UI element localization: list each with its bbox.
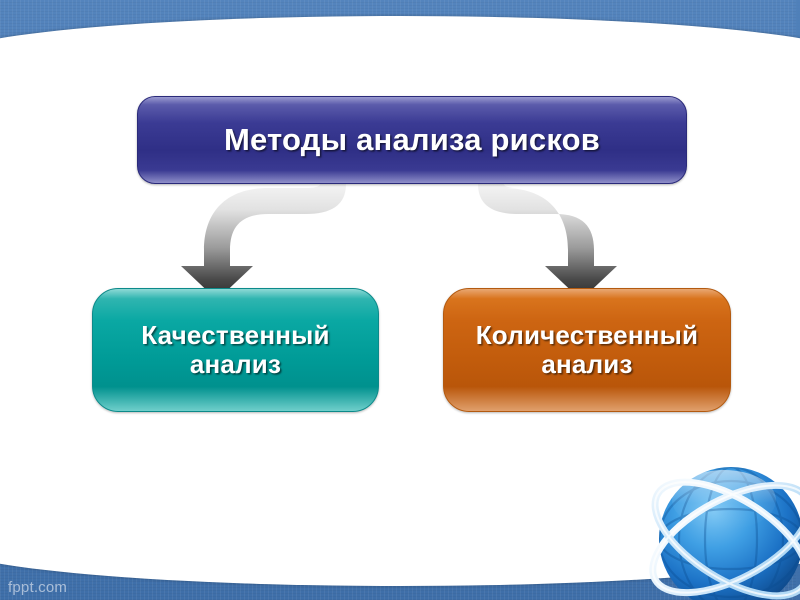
diagram-node-qualitative-label-line1: Качественный xyxy=(141,321,330,350)
diagram-node-qualitative-label: Качественный анализ xyxy=(141,321,330,379)
diagram-node-root[interactable]: Методы анализа рисков xyxy=(137,96,687,184)
watermark-fppt: fppt.com xyxy=(8,579,67,596)
diagram-node-quantitative-label-line1: Количественный xyxy=(476,321,699,350)
globe-graphic xyxy=(636,444,800,600)
slide-canvas: Методы анализа рисков Качественный анали… xyxy=(0,0,800,600)
diagram-node-qualitative-label-line2: анализ xyxy=(141,350,330,379)
diagram-node-root-label: Методы анализа рисков xyxy=(224,123,600,158)
diagram-node-quantitative-label: Количественный анализ xyxy=(476,321,699,379)
diagram-node-quantitative-label-line2: анализ xyxy=(476,350,699,379)
connector-arrow-left xyxy=(181,184,346,300)
connector-arrow-right xyxy=(478,184,617,300)
diagram-node-quantitative[interactable]: Количественный анализ xyxy=(443,288,731,412)
diagram-node-qualitative[interactable]: Качественный анализ xyxy=(92,288,379,412)
